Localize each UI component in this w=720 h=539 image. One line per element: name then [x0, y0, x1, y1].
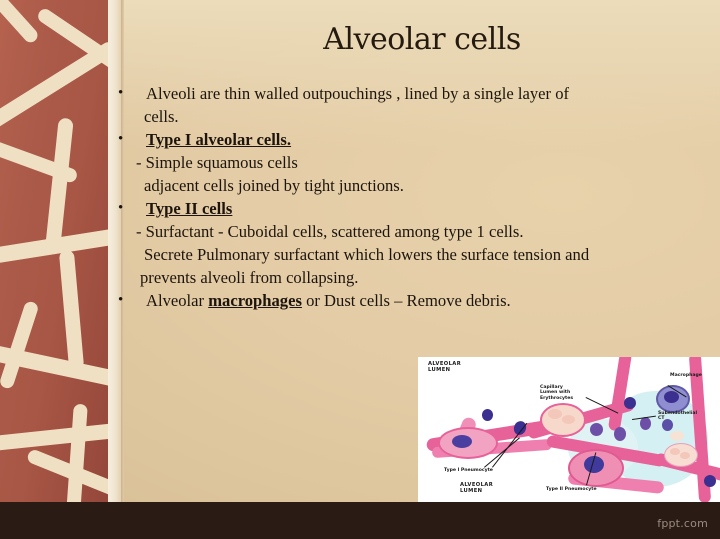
cell-nucleus: [614, 427, 626, 441]
bullet-text: prevents alveoli from collapsing.: [140, 268, 358, 287]
band-vein: [66, 404, 88, 510]
watermark: fppt.com: [657, 517, 708, 530]
cell-nucleus: [704, 475, 716, 487]
bullet-item: •Alveoli are thin walled outpouchings , …: [112, 82, 712, 105]
band-vein: [0, 422, 108, 454]
bullet-marker: •: [118, 128, 123, 151]
cell-nucleus: [664, 391, 679, 403]
bullet-text: Alveolar: [146, 291, 208, 310]
cell-nucleus: [590, 423, 603, 436]
figure-label-alveolar-lumen-bottom: ALVEOLAR LUMEN: [460, 483, 493, 495]
band-vein: [0, 39, 108, 131]
cell-nucleus: [482, 409, 493, 421]
erythrocyte: [562, 415, 575, 424]
bullet-marker: •: [118, 82, 123, 105]
bullet-item: •Type II cells: [112, 197, 712, 220]
figure-label-type-ii-pneumocyte: Type II Pneumocyte: [546, 487, 597, 492]
bullet-continuation: adjacent cells joined by tight junctions…: [112, 174, 712, 197]
band-vein: [59, 250, 84, 371]
bullet-continuation: prevents alveoli from collapsing.: [112, 266, 712, 289]
band-vein: [0, 343, 108, 390]
bullet-marker: •: [118, 197, 123, 220]
bullet-text: - Simple squamous cells: [136, 153, 298, 172]
erythrocyte: [670, 431, 684, 441]
bullet-continuation: - Simple squamous cells: [112, 151, 712, 174]
bullet-text: or Dust cells – Remove debris.: [302, 291, 511, 310]
figure-label-type-i-pneumocyte: Type I Pneumocyte: [444, 468, 493, 473]
slide: Alveolar cells •Alveoli are thin walled …: [0, 0, 720, 539]
cell-nucleus: [452, 435, 472, 448]
emphasized-term: Type I alveolar cells.: [146, 130, 291, 149]
page-title: Alveolar cells: [124, 22, 720, 57]
band-vein: [0, 300, 40, 390]
bullet-item: •Alveolar macrophages or Dust cells – Re…: [112, 289, 712, 312]
bullet-item: •Type I alveolar cells.: [112, 128, 712, 151]
bullet-text: cells.: [144, 107, 179, 126]
figure-label-macrophage: Macrophage: [670, 373, 702, 378]
cell-nucleus: [624, 397, 636, 409]
figure-label-alveolar-lumen-top: ALVEOLAR LUMEN: [428, 362, 461, 374]
band-vein: [45, 118, 74, 249]
bullet-text: Secrete Pulmonary surfactant which lower…: [144, 245, 589, 264]
footer-bar: fppt.com: [0, 502, 720, 539]
bullet-continuation: - Surfactant - Cuboidal cells, scattered…: [112, 220, 712, 243]
histology-canvas: ALVEOLAR LUMEN ALVEOLAR LUMEN Capillary …: [418, 357, 720, 512]
erythrocyte: [680, 452, 690, 459]
bullet-text: - Surfactant - Cuboidal cells, scattered…: [136, 222, 524, 241]
emphasized-term: macrophages: [208, 291, 302, 310]
histology-figure: ALVEOLAR LUMEN ALVEOLAR LUMEN Capillary …: [418, 357, 720, 512]
band-vein: [0, 0, 40, 45]
bullet-list: •Alveoli are thin walled outpouchings , …: [112, 82, 712, 312]
decorative-left-band: [0, 0, 108, 510]
emphasized-term: Type II cells: [146, 199, 232, 218]
cell-nucleus: [640, 417, 651, 430]
erythrocyte: [548, 409, 562, 419]
bullet-marker: •: [118, 289, 123, 312]
figure-label-capillary-lumen: Capillary Lumen with Erythrocytes: [540, 385, 573, 401]
bullet-continuation: Secrete Pulmonary surfactant which lower…: [112, 243, 712, 266]
erythrocyte: [670, 448, 680, 455]
figure-label-subendothelial-ct: Subendothelial CT: [658, 411, 697, 422]
bullet-text: adjacent cells joined by tight junctions…: [144, 176, 404, 195]
bullet-text: Alveoli are thin walled outpouchings , l…: [146, 84, 569, 103]
bullet-continuation: cells.: [112, 105, 712, 128]
